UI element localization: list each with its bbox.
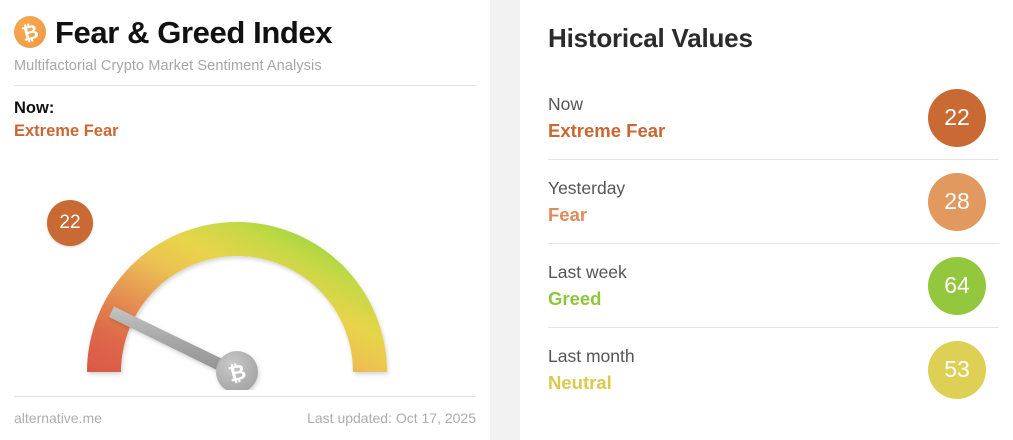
panel-divider bbox=[490, 0, 520, 440]
historical-panel: Historical Values Now Extreme Fear 22 Ye… bbox=[520, 0, 1013, 440]
bitcoin-icon: ₿ bbox=[14, 16, 46, 48]
page-subtitle: Multifactorial Crypto Market Sentiment A… bbox=[14, 58, 476, 75]
list-item-label: Extreme Fear bbox=[548, 119, 665, 142]
fear-greed-widget: ₿ Fear & Greed Index Multifactorial Cryp… bbox=[0, 0, 1013, 440]
source-link[interactable]: alternative.me bbox=[14, 410, 102, 426]
list-item-value-badge: 22 bbox=[928, 89, 986, 147]
page-title: Fear & Greed Index bbox=[55, 17, 332, 48]
list-item[interactable]: Last month Neutral 53 bbox=[548, 327, 999, 411]
gauge-hub: ₿ bbox=[216, 351, 258, 390]
list-item-value-badge: 53 bbox=[928, 341, 986, 399]
svg-text:₿: ₿ bbox=[20, 21, 41, 46]
gauge: ₿ 22 bbox=[0, 150, 490, 390]
list-item-period: Last month bbox=[548, 346, 635, 368]
list-item-value-badge: 28 bbox=[928, 173, 986, 231]
list-item-period: Now bbox=[548, 94, 665, 116]
list-item[interactable]: Last week Greed 64 bbox=[548, 243, 999, 327]
list-item-value-badge: 64 bbox=[928, 257, 986, 315]
list-item-label: Greed bbox=[548, 287, 627, 310]
list-item[interactable]: Now Extreme Fear 22 bbox=[548, 76, 999, 159]
historical-list: Now Extreme Fear 22 Yesterday Fear 28 La… bbox=[548, 76, 999, 411]
footer: alternative.me Last updated: Oct 17, 202… bbox=[14, 396, 476, 440]
gauge-arc bbox=[87, 222, 387, 372]
header-divider bbox=[14, 85, 476, 86]
gauge-value-badge: 22 bbox=[47, 200, 93, 246]
now-block: Now: Extreme Fear bbox=[14, 97, 476, 143]
header: ₿ Fear & Greed Index bbox=[14, 10, 476, 54]
list-item-label: Fear bbox=[548, 203, 625, 226]
historical-title: Historical Values bbox=[548, 23, 999, 54]
now-label: Now: bbox=[14, 97, 476, 120]
list-item-period: Last week bbox=[548, 262, 627, 284]
now-value: Extreme Fear bbox=[14, 120, 476, 143]
list-item-label: Neutral bbox=[548, 371, 635, 394]
last-updated: Last updated: Oct 17, 2025 bbox=[307, 410, 476, 426]
list-item[interactable]: Yesterday Fear 28 bbox=[548, 159, 999, 243]
gauge-panel: ₿ Fear & Greed Index Multifactorial Cryp… bbox=[0, 0, 490, 440]
gauge-dial: ₿ bbox=[14, 150, 476, 390]
list-item-period: Yesterday bbox=[548, 178, 625, 200]
